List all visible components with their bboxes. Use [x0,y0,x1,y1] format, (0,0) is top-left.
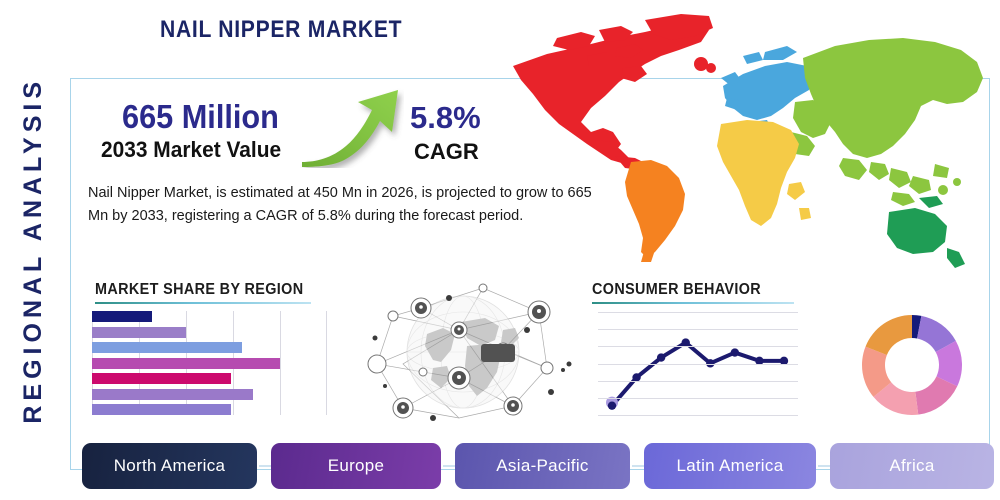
section-header-market-share: MARKET SHARE BY REGION [95,281,311,304]
segment-donut-chart [855,308,969,422]
region-pill-europe[interactable]: Europe [271,443,441,489]
globe-network-icon [363,268,588,426]
bar-row [92,358,332,369]
market-value-number: 665 Million [122,98,279,136]
bar [92,327,186,338]
gridline [598,381,798,382]
region-pill-label: Asia-Pacific [496,456,588,476]
region-pill-bar: North AmericaEuropeAsia-PacificLatin Ame… [82,443,984,491]
section-header-consumer-behavior-text: CONSUMER BEHAVIOR [592,281,774,299]
section-header-market-share-text: MARKET SHARE BY REGION [95,281,289,299]
region-pill-label: Latin America [677,456,784,476]
region-pill-north-america[interactable]: North America [82,443,257,489]
gridline [598,312,798,313]
bar-row [92,327,332,338]
bar [92,373,231,384]
bar [92,311,152,322]
bar-row [92,373,332,384]
gridline [598,398,798,399]
line-chart-gridlines [598,312,798,415]
donut-chart-segments [855,308,969,422]
gridline [598,329,798,330]
region-pill-label: North America [114,456,226,476]
bar [92,342,242,353]
section-divider [592,302,794,304]
cagr-caption: CAGR [414,139,479,165]
region-pill-label: Europe [328,456,385,476]
gridline [598,346,798,347]
donut-segment [866,315,912,355]
section-divider [95,302,311,304]
infographic-root: REGIONAL ANALYSIS NAIL NIPPER MARKET 665… [0,0,1000,500]
section-header-consumer-behavior: CONSUMER BEHAVIOR [592,281,794,304]
world-map-icon [495,12,995,270]
region-pill-latin-america[interactable]: Latin America [644,443,816,489]
gridline [598,364,798,365]
bar-row [92,389,332,400]
bar-row [92,311,332,322]
vertical-section-label-text: REGIONAL ANALYSIS [19,77,48,424]
cagr-number: 5.8% [410,100,481,136]
bar [92,358,280,369]
bar-row [92,404,332,415]
bar-chart-bars [92,311,332,415]
bar [92,404,231,415]
bar-row [92,342,332,353]
page-title: NAIL NIPPER MARKET [160,16,402,44]
gridline [598,415,798,416]
region-pill-label: Africa [889,456,934,476]
region-pill-asia-pacific[interactable]: Asia-Pacific [455,443,630,489]
region-pill-africa[interactable]: Africa [830,443,994,489]
market-share-bar-chart [92,311,332,415]
consumer-behavior-line-chart [598,312,798,415]
bar [92,389,253,400]
growth-arrow-icon [300,88,404,168]
market-value-caption: 2033 Market Value [101,137,281,163]
vertical-section-label: REGIONAL ANALYSIS [4,0,62,500]
